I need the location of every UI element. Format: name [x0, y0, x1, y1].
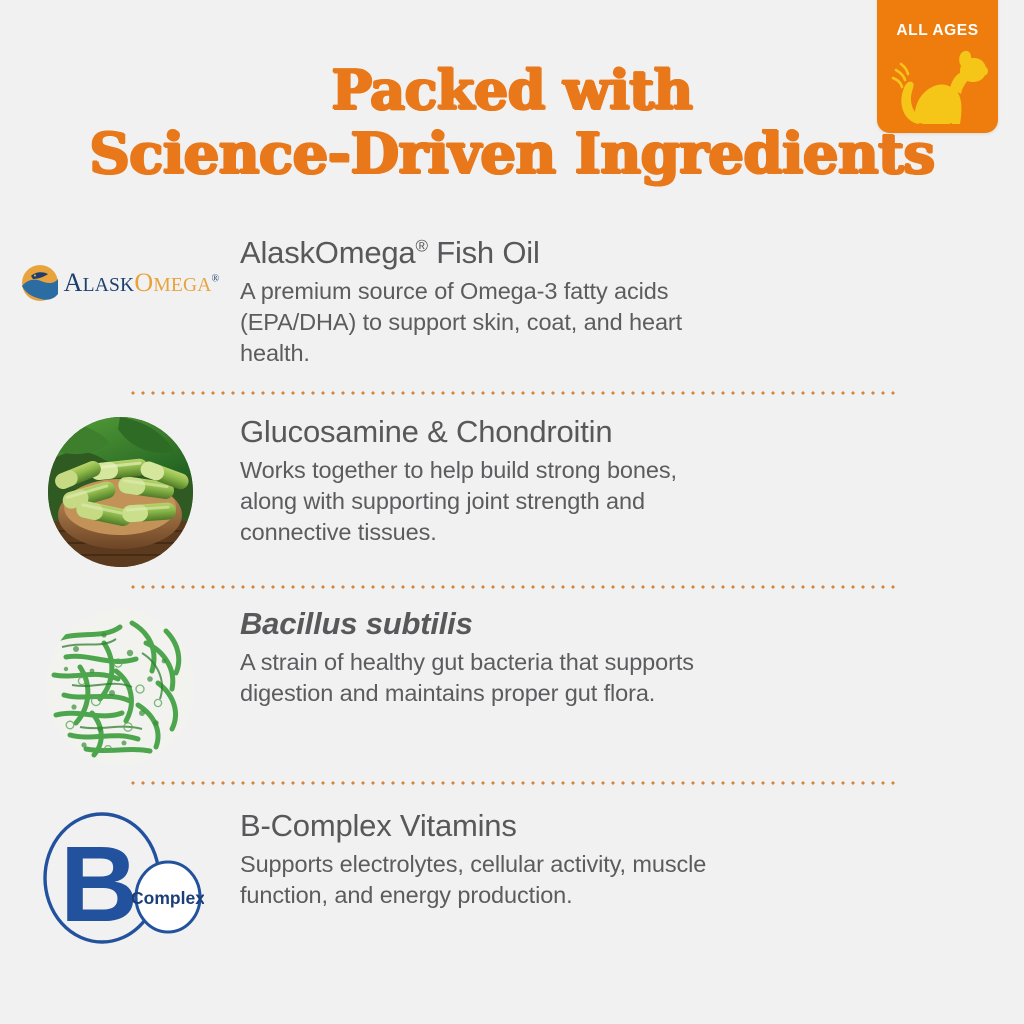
ingredient-title-suffix: Fish Oil — [428, 235, 540, 270]
ingredient-media — [0, 605, 240, 765]
ingredients-list: ALASKOMEGA® AlaskOmega® Fish Oil A premi… — [0, 228, 1024, 961]
green-capsules-photo — [48, 417, 193, 567]
alaskomega-wordmark-alask: ALASK — [64, 268, 135, 297]
registered-mark: ® — [415, 237, 427, 256]
ingredient-text: AlaskOmega® Fish Oil A premium source of… — [240, 234, 1024, 369]
ingredient-title: B-Complex Vitamins — [240, 807, 904, 845]
ingredient-media: B Complex — [0, 807, 240, 945]
ingredient-text: Glucosamine & Chondroitin Works together… — [240, 413, 1024, 548]
all-ages-badge-label: ALL AGES — [877, 22, 998, 40]
ingredient-title: Glucosamine & Chondroitin — [240, 413, 904, 451]
ingredient-media: ALASKOMEGA® — [0, 234, 240, 302]
b-complex-logo: B Complex — [36, 811, 204, 945]
ingredient-row-b-complex: B Complex B-Complex Vitamins Supports el… — [0, 785, 1024, 961]
ingredient-description: A premium source of Omega-3 fatty acids … — [240, 276, 740, 369]
ingredient-row-bacillus: Bacillus subtilis A strain of healthy gu… — [0, 589, 1024, 781]
ingredient-text: B-Complex Vitamins Supports electrolytes… — [240, 807, 1024, 911]
ingredient-media — [0, 413, 240, 567]
b-complex-letter: B — [60, 823, 138, 944]
bacillus-microscope-photo — [46, 609, 194, 765]
b-complex-badge-text: Complex — [131, 888, 204, 908]
ingredient-text: Bacillus subtilis A strain of healthy gu… — [240, 605, 1024, 709]
ingredient-row-alaskomega: ALASKOMEGA® AlaskOmega® Fish Oil A premi… — [0, 228, 1024, 391]
alaskomega-wordmark: ALASKOMEGA® — [64, 270, 220, 296]
registered-mark: ® — [212, 273, 220, 284]
ingredient-title-main: AlaskOmega — [240, 235, 415, 270]
title-line-2: Science-Driven Ingredients — [0, 122, 1024, 186]
alaskomega-logo: ALASKOMEGA® — [21, 264, 220, 302]
alaskomega-wordmark-omega: OMEGA — [134, 268, 211, 297]
ingredient-title: Bacillus subtilis — [240, 605, 904, 643]
page-title: Packed with Science-Driven Ingredients — [0, 58, 1024, 186]
ingredient-row-glucosamine: Glucosamine & Chondroitin Works together… — [0, 395, 1024, 585]
ingredient-title: AlaskOmega® Fish Oil — [240, 234, 904, 272]
alaskomega-fish-wave-icon — [21, 264, 59, 302]
ingredient-description: Supports electrolytes, cellular activity… — [240, 849, 740, 911]
ingredient-description: A strain of healthy gut bacteria that su… — [240, 647, 740, 709]
ingredient-description: Works together to help build strong bone… — [240, 455, 740, 548]
title-line-1: Packed with — [0, 58, 1024, 122]
